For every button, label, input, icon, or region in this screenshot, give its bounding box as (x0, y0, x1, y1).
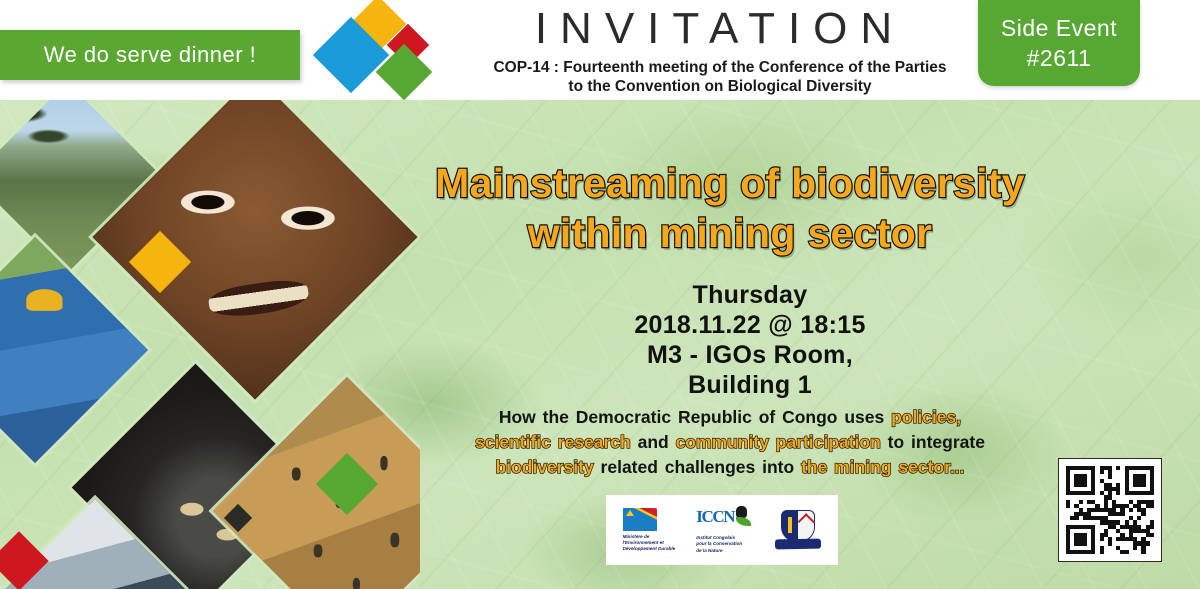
gorilla-eye (180, 503, 203, 516)
description-highlight-mining-sector: the mining sector... (801, 457, 964, 477)
description-highlight-research: scientific research (475, 432, 631, 452)
cop-subtitle: COP-14 : Fourteenth meeting of the Confe… (440, 58, 1000, 96)
arms-ribbon (775, 539, 821, 550)
event-title: Mainstreaming of biodiversity within min… (380, 158, 1080, 258)
iccn-logo: ICCN Institut Congolais pour la Conserva… (696, 506, 754, 554)
description-highlight-policies: policies, (891, 407, 961, 427)
partner-logos-panel: Ministère de l'Environnement et Développ… (606, 495, 838, 565)
side-event-badge: Side Event #2611 (978, 0, 1140, 86)
cbd-diamond-logo (318, 2, 428, 98)
photo-collage (0, 100, 420, 589)
event-title-line-2: within mining sector (380, 208, 1080, 258)
cop-subtitle-line-2: to the Convention on Biological Diversit… (440, 77, 1000, 96)
drc-flag-icon (623, 508, 657, 531)
leaf-icon (736, 517, 751, 526)
description-highlight-biodiversity: biodiversity (495, 457, 593, 477)
description-text: and (631, 432, 676, 452)
qr-code[interactable] (1058, 458, 1162, 562)
description-line-2: scientific research and community partic… (405, 430, 1055, 455)
description-text: How the Democratic Republic of Congo use… (499, 407, 891, 427)
eye-left (182, 190, 235, 213)
event-description: How the Democratic Republic of Congo use… (405, 405, 1055, 480)
event-building: Building 1 (560, 370, 940, 400)
event-day: Thursday (560, 280, 940, 310)
qr-code-matrix (1066, 466, 1154, 554)
smile (207, 277, 310, 321)
event-schedule: Thursday 2018.11.22 @ 18:15 M3 - IGOs Ro… (560, 280, 940, 400)
iccn-mark-icon: ICCN (696, 506, 754, 532)
dinner-banner-label: We do serve dinner ! (44, 42, 257, 68)
description-text: to integrate (881, 432, 985, 452)
ministry-logo-caption: Ministère de l'Environnement et Développ… (623, 534, 676, 553)
invitation-poster: We do serve dinner ! INVITATION COP-14 :… (0, 0, 1200, 589)
invitation-title: INVITATION (460, 4, 980, 54)
side-event-number: #2611 (978, 43, 1140, 73)
event-room: M3 - IGOs Room, (560, 340, 940, 370)
torch-icon (788, 517, 792, 533)
description-highlight-participation: community participation (676, 432, 881, 452)
iccn-logo-caption: Institut Congolais pour la Conservation … (696, 535, 742, 554)
cop-subtitle-line-1: COP-14 : Fourteenth meeting of the Confe… (440, 58, 1000, 77)
hard-hat-icon (26, 290, 63, 311)
event-date-time: 2018.11.22 @ 18:15 (560, 310, 940, 340)
ministry-environment-logo: Ministère de l'Environnement et Développ… (623, 508, 676, 553)
description-line-1: How the Democratic Republic of Congo use… (405, 405, 1055, 430)
side-event-label: Side Event (978, 13, 1140, 43)
description-line-3: biodiversity related challenges into the… (405, 455, 1055, 480)
description-text: related challenges into (594, 457, 801, 477)
dinner-banner: We do serve dinner ! (0, 30, 300, 80)
tree-silhouette (0, 100, 75, 177)
event-title-line-1: Mainstreaming of biodiversity (380, 158, 1080, 208)
coat-of-arms-logo (775, 508, 821, 552)
eye-right (282, 207, 335, 230)
